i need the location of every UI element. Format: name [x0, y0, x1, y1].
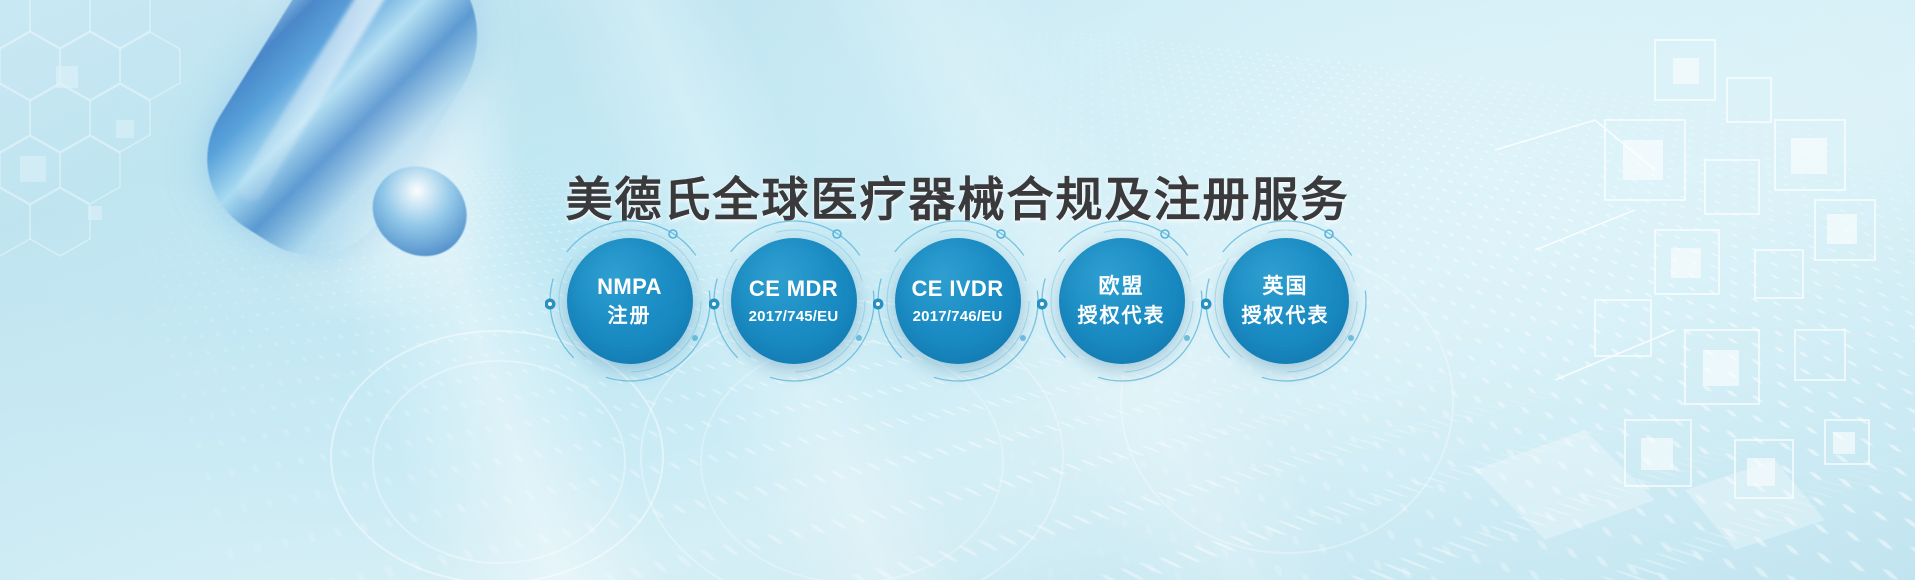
lens-circle-a: [330, 330, 664, 580]
service-badge-uk-rep[interactable]: 英国 授权代表: [1223, 238, 1349, 364]
badge-line1: 英国: [1263, 274, 1309, 299]
badge-line2: 2017/746/EU: [913, 308, 1003, 326]
badge-disc: CE IVDR 2017/746/EU: [895, 238, 1021, 364]
service-badge-eu-rep[interactable]: 欧盟 授权代表: [1059, 238, 1185, 364]
service-badge-ce-mdr[interactable]: CE MDR 2017/745/EU: [731, 238, 857, 364]
badge-line1: NMPA: [597, 274, 662, 300]
badge-line1: CE IVDR: [911, 276, 1003, 302]
service-badge-nmpa[interactable]: NMPA 注册: [567, 238, 693, 364]
service-badge-row: NMPA 注册 CE MDR 2017/745/EU: [0, 238, 1915, 364]
badge-line1: CE MDR: [749, 276, 838, 302]
page-title: 美德氏全球医疗器械合规及注册服务: [0, 161, 1915, 230]
lens-circle-b: [372, 360, 626, 564]
badge-disc: CE MDR 2017/745/EU: [731, 238, 857, 364]
badge-disc: NMPA 注册: [567, 238, 693, 364]
service-badge-ce-ivdr[interactable]: CE IVDR 2017/746/EU: [895, 238, 1021, 364]
badge-line1: 欧盟: [1099, 274, 1145, 299]
badge-line2: 授权代表: [1078, 304, 1166, 328]
hero-banner: 美德氏全球医疗器械合规及注册服务 NMPA 注册: [0, 0, 1915, 580]
badge-line2: 2017/745/EU: [749, 308, 839, 326]
badge-line2: 注册: [608, 304, 652, 328]
badge-line2: 授权代表: [1242, 304, 1330, 328]
lens-circle-d: [700, 340, 1004, 580]
badge-disc: 英国 授权代表: [1223, 238, 1349, 364]
badge-disc: 欧盟 授权代表: [1059, 238, 1185, 364]
